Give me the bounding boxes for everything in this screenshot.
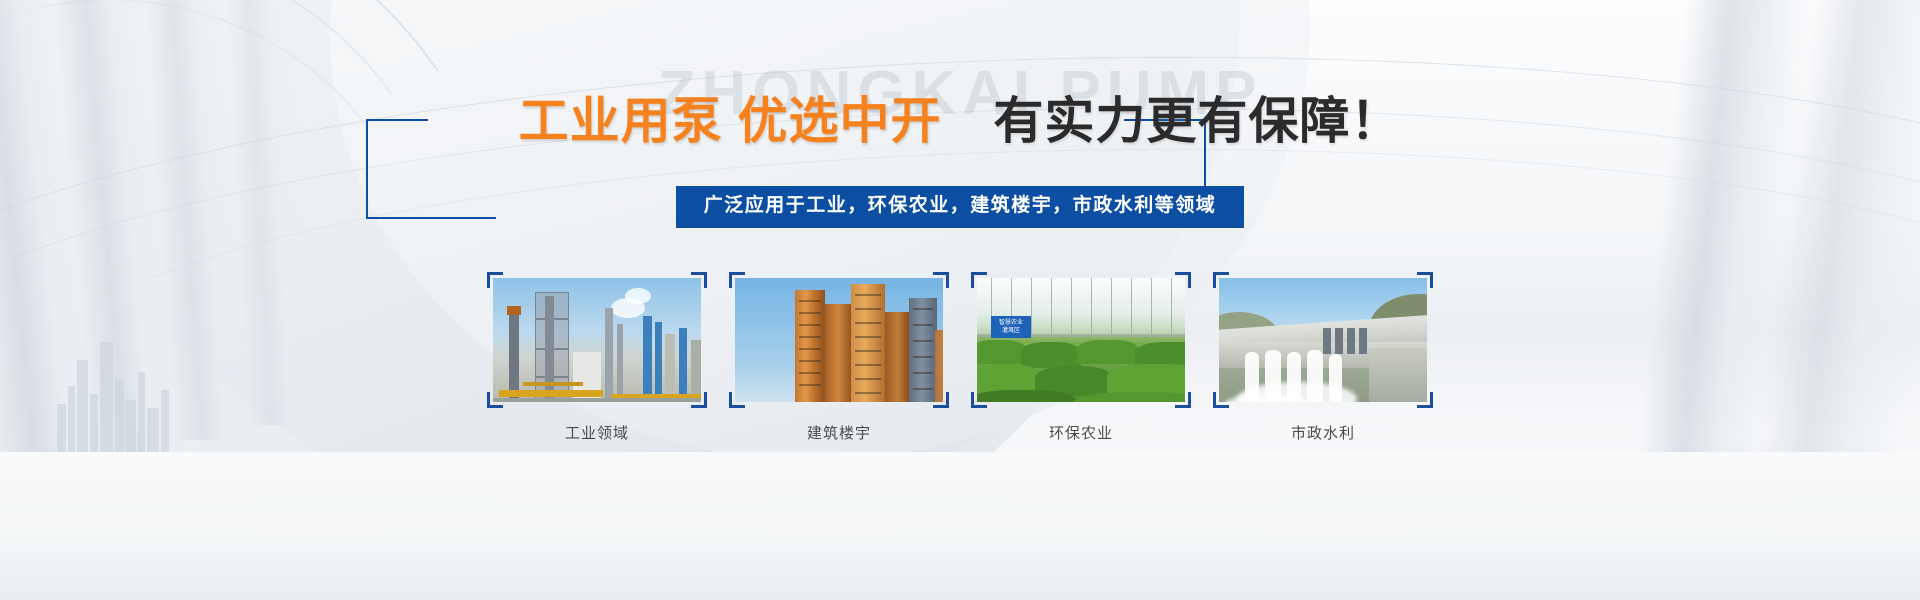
subtitle-bar: 广泛应用于工业，环保农业，建筑楼宇，市政水利等领域 [676,186,1245,228]
promo-banner: ZHONGKAI PUMP 工业用泵 优选中开 有实力更有保障！ 广泛应用于工业… [0,0,1920,600]
card-frame [729,272,949,408]
subtitle-bar-wrap: 广泛应用于工业，环保农业，建筑楼宇，市政水利等领域 [0,186,1920,228]
headline-rest: 有实力更有保障！ [993,93,1401,149]
headline: 工业用泵 优选中开 有实力更有保障！ [519,96,1402,146]
greenhouse-farming-photo: 智慧农业灌溉区 [977,278,1185,402]
application-card-industrial[interactable]: 工业领域 [487,272,707,443]
card-frame [1213,272,1433,408]
card-frame: 智慧农业灌溉区 [971,272,1191,408]
card-frame [487,272,707,408]
card-caption: 环保农业 [971,422,1191,443]
application-cards: 工业领域 [0,272,1920,443]
city-buildings-photo [735,278,943,402]
industrial-plant-photo [493,278,701,402]
greenhouse-sign: 智慧农业灌溉区 [991,316,1031,338]
card-caption: 市政水利 [1213,422,1433,443]
card-caption: 建筑楼宇 [729,422,949,443]
application-card-buildings[interactable]: 建筑楼宇 [729,272,949,443]
dam-spillway-photo [1219,278,1427,402]
headline-highlight: 工业用泵 优选中开 [519,93,942,149]
application-card-agriculture[interactable]: 智慧农业灌溉区 环保农业 [971,272,1191,443]
application-card-water-conservancy[interactable]: 市政水利 [1213,272,1433,443]
headline-block: 工业用泵 优选中开 有实力更有保障！ [0,96,1920,146]
card-caption: 工业领域 [487,422,707,443]
